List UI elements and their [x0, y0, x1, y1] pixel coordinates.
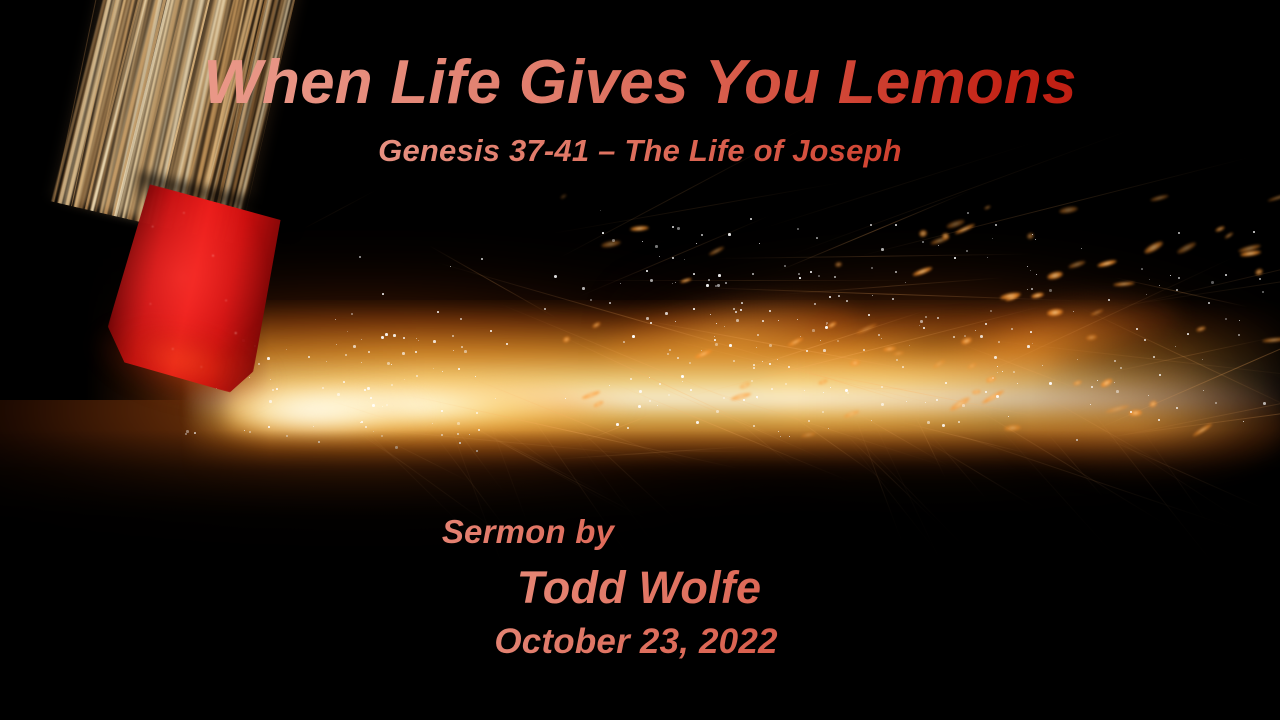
spark [677, 357, 679, 359]
spark [361, 421, 363, 423]
spark [1203, 390, 1204, 391]
ember-trail [1100, 337, 1274, 375]
ember-trail [437, 262, 826, 374]
spark [736, 319, 739, 322]
spark [740, 309, 742, 311]
spark [351, 313, 353, 315]
spark [418, 340, 419, 341]
ember-trail [957, 342, 1090, 394]
spark [1036, 274, 1037, 275]
spark [650, 279, 653, 282]
spark [896, 359, 898, 361]
spark [804, 390, 805, 391]
spark [185, 433, 187, 435]
spark [769, 310, 771, 312]
sermon-date: October 23, 2022 [0, 622, 1276, 662]
spark [829, 296, 831, 298]
spark [895, 224, 897, 226]
spark [1081, 248, 1082, 249]
spark [1097, 380, 1098, 381]
ember [942, 233, 950, 239]
spark [714, 336, 715, 337]
spark [453, 350, 454, 351]
spark [696, 421, 699, 424]
spark-whisker [468, 424, 613, 498]
spark-whisker [921, 438, 1034, 507]
spark [402, 352, 405, 355]
spark [717, 284, 720, 287]
spark [360, 422, 361, 423]
spark [789, 436, 790, 437]
spark [990, 310, 992, 312]
spark-whisker [428, 401, 651, 526]
spark [659, 383, 661, 385]
spark [777, 359, 778, 360]
spark [682, 381, 683, 382]
spark [997, 366, 998, 367]
scripture-subtitle: Genesis 37-41 – The Life of Joseph [0, 133, 1280, 169]
spark [958, 421, 960, 423]
ember [1143, 239, 1165, 255]
smoke-swirl [843, 306, 1028, 379]
spark [1187, 333, 1189, 335]
spark [616, 423, 619, 426]
spark [1091, 386, 1093, 388]
spark [868, 314, 870, 316]
spark [954, 257, 956, 259]
spark [925, 402, 926, 403]
spark [544, 308, 546, 310]
spark-whisker [913, 412, 946, 478]
ember [562, 336, 571, 344]
spark [365, 426, 367, 428]
spark [1011, 328, 1013, 330]
spark [370, 397, 372, 399]
spark-whisker [330, 400, 397, 423]
spark [612, 239, 615, 242]
ember-trail [1024, 384, 1178, 472]
spark-whisker [1046, 432, 1104, 498]
spark [416, 375, 418, 377]
spark [706, 284, 709, 287]
flame-billow [756, 315, 1064, 438]
ember [680, 277, 692, 284]
sermon-by-label: Sermon by [0, 513, 1168, 551]
spark [1144, 339, 1146, 341]
spark [1073, 311, 1074, 312]
ember [1215, 225, 1226, 232]
spark [441, 410, 443, 412]
spark [1030, 270, 1031, 271]
spark [416, 338, 417, 339]
spark [337, 393, 340, 396]
spark [675, 321, 676, 322]
spark [1130, 411, 1132, 413]
spark [646, 270, 648, 272]
ember [946, 218, 966, 229]
ember-trail [1096, 247, 1280, 310]
spark [642, 241, 643, 242]
spark [920, 320, 923, 323]
spark [992, 377, 994, 379]
ember [1097, 259, 1118, 269]
spark [367, 387, 370, 390]
ember [1086, 334, 1098, 340]
spark [1175, 346, 1176, 347]
spark [630, 378, 632, 380]
ember [1240, 249, 1261, 257]
spark [927, 421, 930, 424]
page-title: When Life Gives You Lemons [0, 50, 1280, 117]
spark [665, 312, 668, 315]
spark [460, 318, 462, 320]
spark [433, 368, 434, 369]
flame-billow [596, 282, 864, 391]
spark [1027, 345, 1030, 348]
ember-trail [757, 356, 915, 405]
ember [708, 245, 725, 256]
ember [581, 390, 601, 400]
spark [975, 330, 976, 331]
ember [1031, 292, 1045, 300]
spark [450, 266, 451, 267]
spark [361, 362, 362, 363]
spark-whisker [380, 436, 472, 483]
spark [353, 345, 356, 348]
spark [433, 340, 436, 343]
spark [825, 326, 828, 329]
spark [650, 322, 652, 324]
ember-trail [899, 421, 1030, 454]
spark-whisker [727, 413, 796, 469]
spark [797, 228, 799, 230]
spark [347, 331, 348, 332]
spark [895, 271, 897, 273]
spark [1090, 404, 1091, 405]
ember [801, 432, 816, 439]
ember [1262, 337, 1280, 343]
spark [677, 227, 680, 230]
spark [980, 335, 983, 338]
ember-trail [551, 446, 749, 460]
spark [506, 343, 508, 345]
spark [715, 343, 718, 346]
spark [490, 330, 492, 332]
spark [1225, 318, 1227, 320]
ember [1129, 409, 1142, 416]
ember-trail [429, 245, 557, 318]
spark [724, 326, 725, 327]
spark [902, 366, 904, 368]
spark [762, 361, 763, 362]
spark [733, 360, 735, 362]
ember-trail [780, 277, 1004, 295]
spark [1076, 439, 1078, 441]
spark [820, 340, 821, 341]
spark [1136, 328, 1138, 330]
spark [846, 300, 848, 302]
spark [753, 367, 755, 369]
ember [843, 409, 860, 419]
ember-trail [656, 336, 985, 416]
spark [442, 371, 443, 372]
spark [1239, 320, 1240, 321]
spark-whisker [777, 405, 891, 486]
ember [1004, 424, 1021, 431]
ember [932, 359, 946, 370]
ember-trail [443, 366, 692, 468]
spark [701, 350, 702, 351]
ember [1026, 232, 1035, 241]
spark [382, 406, 383, 407]
spark-whisker [1102, 436, 1268, 511]
spark [756, 347, 757, 348]
spark [716, 410, 719, 413]
ember [918, 229, 928, 238]
spark [684, 259, 685, 260]
spark [925, 316, 927, 318]
spark [672, 226, 674, 228]
spark-whisker [929, 433, 989, 502]
spark-whisker [566, 417, 683, 526]
spark [708, 279, 710, 281]
spark [733, 308, 735, 310]
ember [1196, 326, 1207, 333]
spark [759, 243, 760, 244]
spark [554, 275, 557, 278]
spark [659, 256, 660, 257]
spark [627, 427, 629, 429]
spark [909, 345, 910, 346]
ember-trail [1096, 377, 1280, 441]
spark [710, 314, 711, 315]
spark [997, 372, 998, 373]
ember [985, 375, 996, 384]
spark-whisker [493, 422, 565, 475]
ember [1105, 404, 1130, 415]
spark [1032, 234, 1033, 235]
ember-trail [499, 303, 797, 427]
ember [1150, 194, 1169, 203]
spark [994, 356, 997, 359]
ember [1254, 267, 1264, 276]
ember [827, 321, 838, 329]
spark [769, 363, 771, 365]
spark [892, 298, 894, 300]
spark [834, 276, 836, 278]
spark [1178, 232, 1180, 234]
spark [998, 341, 1000, 343]
spark [1176, 289, 1178, 291]
ember [1059, 205, 1079, 214]
spark [725, 282, 727, 284]
spark [942, 424, 945, 427]
ember-trail [604, 379, 854, 483]
ember-trail [698, 287, 1078, 301]
spark [1148, 395, 1149, 396]
spark [386, 404, 388, 406]
spark [769, 344, 772, 347]
spark [1077, 359, 1078, 360]
spark [667, 353, 669, 355]
spark [649, 400, 651, 402]
spark [582, 287, 585, 290]
spark [847, 392, 849, 394]
flame-billow [926, 279, 1184, 391]
spark [373, 431, 374, 432]
ember [883, 346, 896, 352]
ember [1005, 294, 1019, 302]
ember [787, 336, 804, 347]
spark [881, 386, 883, 388]
spark [475, 376, 476, 377]
spark [838, 295, 840, 297]
ember [630, 225, 649, 232]
ember-trail [1108, 236, 1280, 311]
spark [657, 405, 658, 406]
spark [655, 245, 658, 248]
spark [871, 267, 873, 269]
ember-trail [858, 155, 1256, 257]
spark [437, 311, 439, 313]
spark [757, 398, 758, 399]
spark [808, 420, 810, 422]
spark [476, 450, 478, 452]
spark [823, 349, 826, 352]
spark [816, 237, 818, 239]
smoke-swirl [1057, 321, 1212, 391]
spark [966, 250, 968, 252]
ember [849, 359, 860, 367]
spark [967, 212, 969, 214]
ember-trail [620, 369, 829, 462]
spark [459, 442, 461, 444]
spark [1027, 289, 1028, 290]
spark [1002, 371, 1003, 372]
spark [404, 379, 405, 380]
ember [1099, 377, 1113, 388]
ember-trail [1096, 296, 1280, 429]
spark [415, 351, 417, 353]
spark [881, 338, 882, 339]
spark [646, 317, 649, 320]
spark [469, 434, 470, 435]
spark [799, 277, 801, 279]
spark [905, 282, 906, 283]
spark [1049, 382, 1052, 385]
spark [1153, 356, 1155, 358]
spark [750, 218, 752, 220]
spark [1030, 331, 1032, 333]
spark [938, 245, 939, 246]
ember-trail [618, 361, 963, 473]
spark [681, 375, 684, 378]
spark [810, 271, 812, 273]
spark [845, 389, 848, 392]
spark [962, 404, 965, 407]
spark [992, 238, 993, 239]
spark [672, 257, 674, 259]
spark [1013, 371, 1015, 373]
spark [689, 362, 691, 364]
spark [675, 282, 676, 283]
spark [343, 381, 345, 383]
spark [828, 428, 829, 429]
spark [387, 362, 390, 365]
spark [1146, 294, 1147, 295]
spark [1114, 360, 1116, 362]
ember [1046, 270, 1063, 280]
spark [638, 405, 641, 408]
spark [878, 334, 880, 336]
spark [194, 432, 196, 434]
spark [723, 397, 725, 399]
spark [812, 329, 815, 332]
ember [1047, 308, 1064, 316]
spark [785, 383, 787, 385]
ember-trail [578, 410, 663, 444]
ember [730, 391, 753, 402]
spark [1159, 285, 1160, 286]
spark [1108, 299, 1110, 301]
ember [1000, 291, 1022, 300]
spark [478, 429, 480, 431]
ember [818, 378, 829, 385]
spark [826, 324, 827, 325]
spark [461, 346, 463, 348]
spark [690, 389, 692, 391]
spark [922, 241, 924, 243]
spark [800, 336, 801, 337]
spark [385, 333, 388, 336]
ember [1113, 281, 1135, 287]
ember [1192, 422, 1214, 438]
spark [784, 265, 786, 267]
spark [464, 350, 467, 353]
ember [560, 193, 568, 200]
spark [714, 339, 716, 341]
spark [872, 295, 873, 296]
ember-trail [310, 423, 685, 459]
ember-trail [831, 387, 973, 391]
spark [788, 366, 790, 368]
spark [923, 327, 925, 329]
spark [762, 320, 764, 322]
ember-trail [766, 362, 1044, 418]
spark [1008, 416, 1009, 417]
spark [1116, 390, 1119, 393]
spark [1027, 266, 1028, 267]
spark-whisker [439, 406, 506, 495]
spark [985, 391, 987, 393]
spark [1259, 278, 1261, 280]
spark [985, 323, 987, 325]
ember [930, 235, 951, 246]
spark [602, 232, 604, 234]
ember-trail [1078, 306, 1280, 415]
spark [590, 299, 592, 301]
ember [835, 261, 843, 268]
spark [936, 399, 938, 401]
spark [778, 431, 779, 432]
spark [600, 210, 601, 211]
spark [452, 335, 454, 337]
ember-trail [639, 319, 928, 374]
spark [361, 339, 362, 340]
spark [870, 224, 872, 226]
spark [995, 224, 997, 226]
ember [1267, 193, 1280, 203]
